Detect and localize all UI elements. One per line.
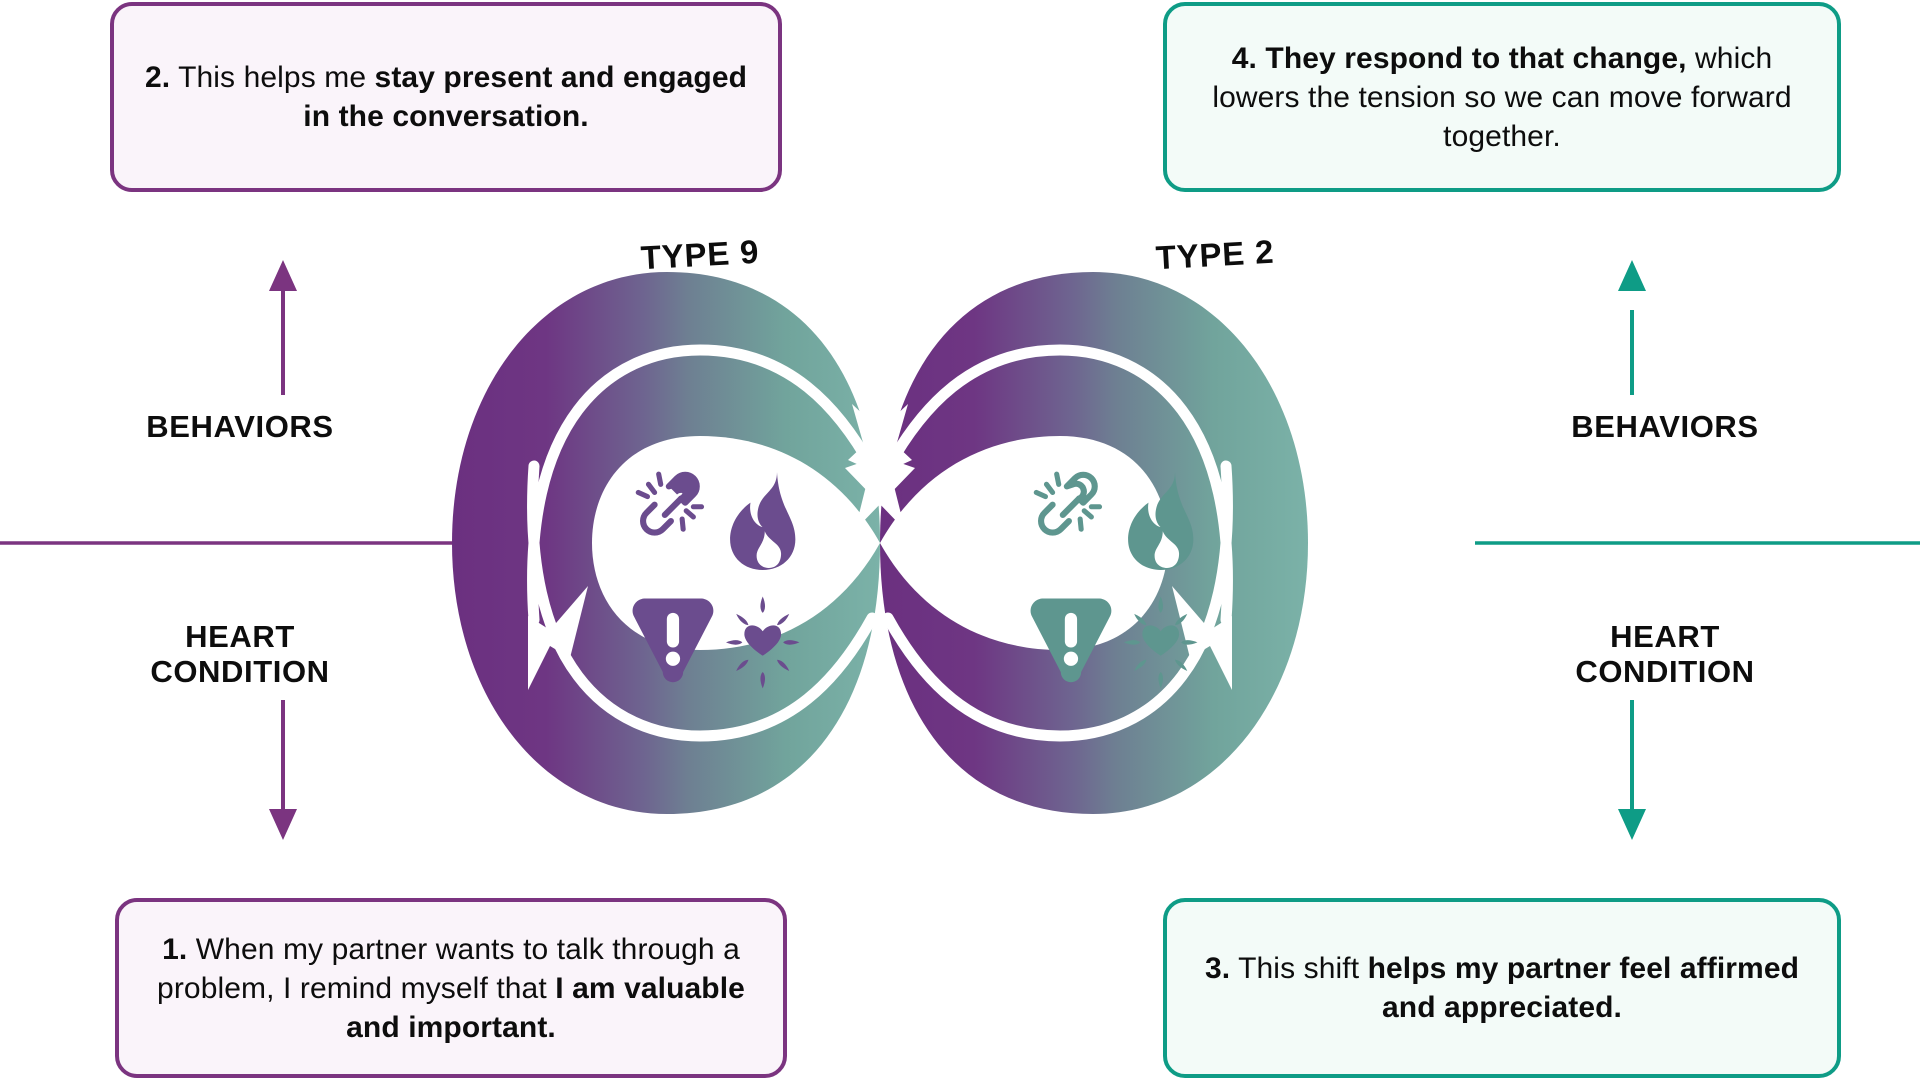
callout-box-2-lead: This helps me xyxy=(170,61,374,94)
label-heart-left-line1: HEART xyxy=(185,619,295,654)
callout-box-4: 4. They respond to that change, which lo… xyxy=(1163,2,1841,192)
label-behaviors-left: BEHAVIORS xyxy=(70,410,410,445)
callout-box-2-text: 2. This helps me stay present and engage… xyxy=(140,58,752,136)
callout-box-3-emphasis: helps my partner feel affirmed and appre… xyxy=(1368,952,1799,1024)
label-heart-left-line2: CONDITION xyxy=(150,654,329,689)
callout-box-1-number: 1. xyxy=(162,933,187,966)
callout-box-3: 3. This shift helps my partner feel affi… xyxy=(1163,898,1841,1078)
callout-box-1-text: 1. When my partner wants to talk through… xyxy=(145,930,757,1047)
infographic-canvas: TYPE 9 TYPE 2 BEHAVIORS HEART CONDITION … xyxy=(0,0,1920,1080)
label-heart-right-line2: CONDITION xyxy=(1575,654,1754,689)
callout-box-3-number: 3. xyxy=(1205,952,1230,985)
callout-box-3-text: 3. This shift helps my partner feel affi… xyxy=(1193,949,1811,1027)
callout-box-4-number: 4. They respond to that change, xyxy=(1232,42,1687,75)
arrow-up-right xyxy=(1618,260,1646,395)
arrow-down-left xyxy=(269,700,297,840)
callout-box-3-lead: This shift xyxy=(1230,952,1367,985)
arrow-up-left xyxy=(269,260,297,395)
label-heart-right-line1: HEART xyxy=(1610,619,1720,654)
callout-box-1: 1. When my partner wants to talk through… xyxy=(115,898,787,1078)
label-behaviors-right: BEHAVIORS xyxy=(1495,410,1835,445)
label-heart-condition-right: HEART CONDITION xyxy=(1495,620,1835,689)
callout-box-2: 2. This helps me stay present and engage… xyxy=(110,2,782,192)
label-heart-condition-left: HEART CONDITION xyxy=(70,620,410,689)
callout-box-2-number: 2. xyxy=(145,61,170,94)
arrow-down-right xyxy=(1618,700,1646,840)
callout-box-4-text: 4. They respond to that change, which lo… xyxy=(1193,39,1811,156)
